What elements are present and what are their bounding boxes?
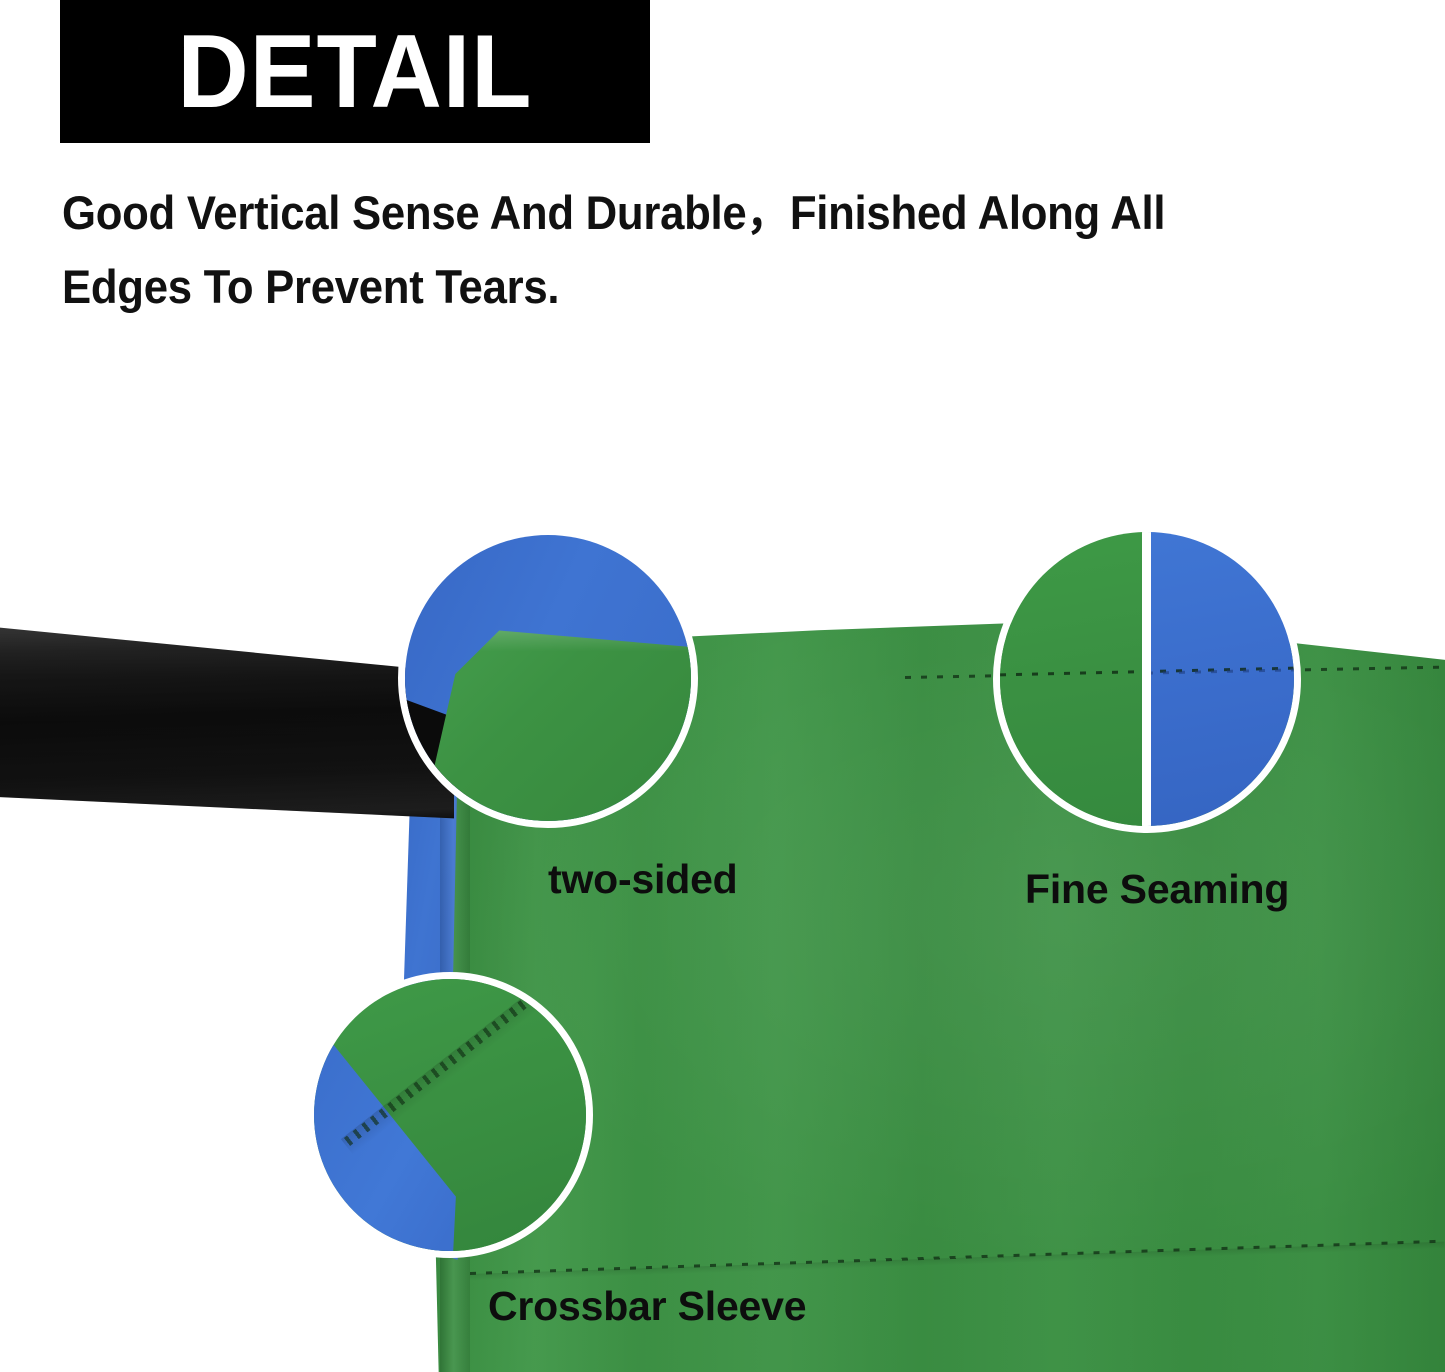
fine-seaming-divider [1142, 526, 1151, 832]
callout-label-two-sided: two-sided [548, 856, 738, 903]
fine-seaming-green-half [1000, 532, 1147, 826]
fine-seaming-blue-half [1147, 532, 1294, 826]
crossbar-gloss-highlight [0, 612, 454, 827]
callout-circle-two-sided [398, 528, 698, 828]
detail-page: two-sided Fine Seaming Crossbar Sleeve D… [0, 0, 1445, 1372]
subtitle-line-2: Edges To Prevent Tears. [62, 250, 1290, 324]
detail-banner-label: DETAIL [177, 20, 532, 124]
callout-label-crossbar-sleeve: Crossbar Sleeve [488, 1283, 806, 1330]
callout-circle-fine-seaming [993, 525, 1301, 833]
detail-banner: DETAIL [60, 0, 650, 143]
callout-circle-crossbar-sleeve [307, 972, 593, 1258]
callout-label-fine-seaming: Fine Seaming [1025, 866, 1289, 913]
subtitle-block: Good Vertical Sense And Durable，Finished… [62, 176, 1382, 324]
subtitle-line-1: Good Vertical Sense And Durable，Finished… [62, 176, 1290, 250]
